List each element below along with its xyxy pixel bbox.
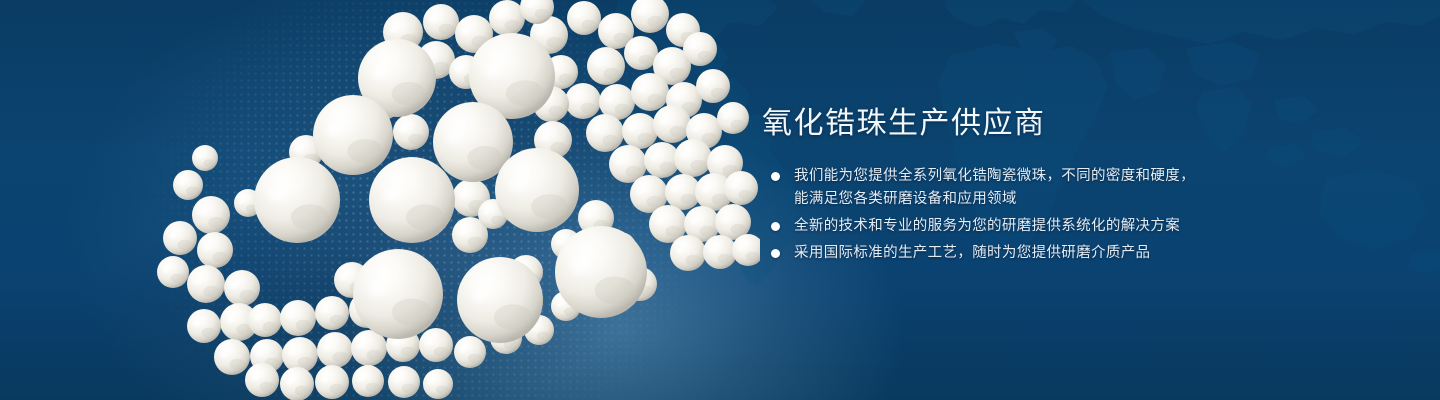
hero-banner: 氧化锆珠生产供应商 我们能为您提供全系列氧化锆陶瓷微珠，不同的密度和硬度， 能满… xyxy=(0,0,1440,400)
list-item-line-1: 全新的技术和专业的服务为您的研磨提供系统化的解决方案 xyxy=(794,218,1180,234)
zirconia-ceramic-beads-photo xyxy=(0,0,760,400)
list-item: 全新的技术和专业的服务为您的研磨提供系统化的解决方案 xyxy=(762,215,1282,238)
bullet-dot-icon xyxy=(771,222,780,231)
page-title: 氧化锆珠生产供应商 xyxy=(762,104,1282,144)
list-item-label: 我们能为您提供全系列氧化锆陶瓷微珠，不同的密度和硬度， 能满足您各类研磨设备和应… xyxy=(794,168,1282,211)
banner-copy: 氧化锆珠生产供应商 我们能为您提供全系列氧化锆陶瓷微珠，不同的密度和硬度， 能满… xyxy=(762,104,1282,269)
list-item-line-1: 采用国际标准的生产工艺，随时为您提供研磨介质产品 xyxy=(794,245,1150,261)
list-item-line-2: 能满足您各类研磨设备和应用领域 xyxy=(794,188,1282,211)
list-item: 我们能为您提供全系列氧化锆陶瓷微珠，不同的密度和硬度， 能满足您各类研磨设备和应… xyxy=(762,165,1282,211)
bullet-dot-icon xyxy=(771,172,780,181)
list-item-label: 采用国际标准的生产工艺，随时为您提供研磨介质产品 xyxy=(794,245,1150,261)
feature-list: 我们能为您提供全系列氧化锆陶瓷微珠，不同的密度和硬度， 能满足您各类研磨设备和应… xyxy=(762,165,1282,265)
list-item-line-1: 我们能为您提供全系列氧化锆陶瓷微珠，不同的密度和硬度， xyxy=(794,168,1195,184)
list-item-label: 全新的技术和专业的服务为您的研磨提供系统化的解决方案 xyxy=(794,218,1180,234)
list-item: 采用国际标准的生产工艺，随时为您提供研磨介质产品 xyxy=(762,242,1282,265)
halftone-dot-pattern xyxy=(0,0,760,400)
bullet-dot-icon xyxy=(771,249,780,258)
